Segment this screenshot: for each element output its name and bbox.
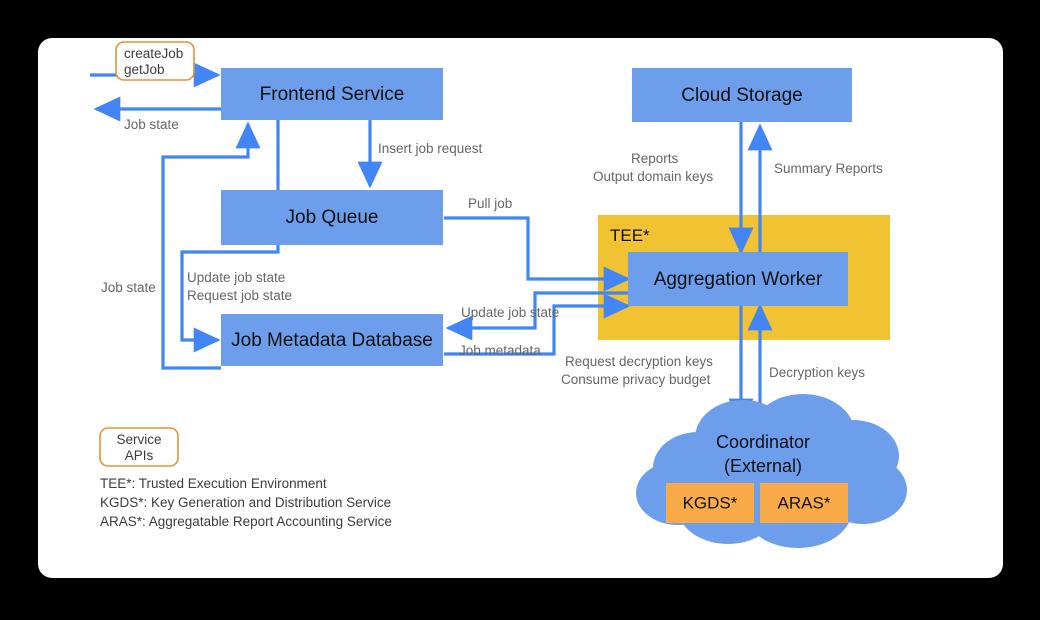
- screenshot-stage: TEE*: [0, 0, 1040, 620]
- aggregation-worker-node[interactable]: Aggregation Worker: [628, 252, 848, 306]
- edge-label-consume-privacy-budget: Consume privacy budget: [561, 372, 711, 387]
- edge-label-pull-job: Pull job: [468, 196, 512, 211]
- job-queue-label: Job Queue: [286, 207, 379, 228]
- legend-service-apis: Service APIs: [100, 428, 178, 466]
- edge-label-job-metadata: Job metadata: [459, 343, 541, 358]
- edge-label-update-job-state-1: Update job state: [187, 270, 285, 285]
- cloud-storage-label: Cloud Storage: [681, 85, 802, 106]
- diagram-canvas: TEE*: [38, 38, 1003, 578]
- kgds-label: KGDS*: [683, 493, 738, 512]
- kgds-node[interactable]: KGDS*: [666, 483, 754, 523]
- callout-createjob-label: createJob: [124, 46, 183, 61]
- aras-node[interactable]: ARAS*: [760, 483, 848, 523]
- coordinator-label-line1: Coordinator: [716, 432, 810, 452]
- footnote-tee: TEE*: Trusted Execution Environment: [100, 476, 327, 491]
- coordinator-cloud[interactable]: Coordinator (External): [636, 394, 907, 548]
- legend-footnotes: TEE*: Trusted Execution Environment KGDS…: [100, 476, 392, 529]
- frontend-service-label: Frontend Service: [260, 84, 405, 105]
- cloud-storage-node[interactable]: Cloud Storage: [632, 68, 852, 122]
- legend-service-label: Service: [116, 432, 161, 447]
- edge-label-request-job-state: Request job state: [187, 288, 292, 303]
- callout-getjob-label: getJob: [124, 62, 165, 77]
- service-api-callout[interactable]: createJob getJob: [116, 42, 194, 80]
- architecture-diagram-svg: TEE*: [38, 38, 1003, 578]
- edge-label-decryption-keys: Decryption keys: [769, 365, 865, 380]
- edge-label-request-decryption-keys: Request decryption keys: [565, 354, 713, 369]
- coordinator-label-line2: (External): [724, 456, 802, 476]
- edge-label-summary-reports: Summary Reports: [774, 161, 883, 176]
- edge-label-update-job-state-2: Update job state: [461, 305, 559, 320]
- edge-label-reports: Reports: [631, 151, 679, 166]
- aggregation-worker-label: Aggregation Worker: [654, 269, 823, 290]
- footnote-kgds: KGDS*: Key Generation and Distribution S…: [100, 495, 391, 510]
- edge-label-insert-job-request: Insert job request: [378, 141, 483, 156]
- job-queue-node[interactable]: Job Queue: [221, 190, 443, 245]
- job-metadata-database-node[interactable]: Job Metadata Database: [221, 314, 443, 366]
- edge-label-job-state-out: Job state: [124, 117, 179, 132]
- edge-label-output-domain-keys: Output domain keys: [593, 169, 713, 184]
- edge-label-job-state-db: Job state: [101, 280, 156, 295]
- tee-boundary-label: TEE*: [610, 226, 650, 245]
- aras-label: ARAS*: [778, 493, 831, 512]
- legend-apis-label: APIs: [125, 448, 154, 463]
- footnote-aras: ARAS*: Aggregatable Report Accounting Se…: [100, 514, 392, 529]
- frontend-service-node[interactable]: Frontend Service: [221, 68, 443, 120]
- job-metadata-database-label: Job Metadata Database: [231, 330, 433, 351]
